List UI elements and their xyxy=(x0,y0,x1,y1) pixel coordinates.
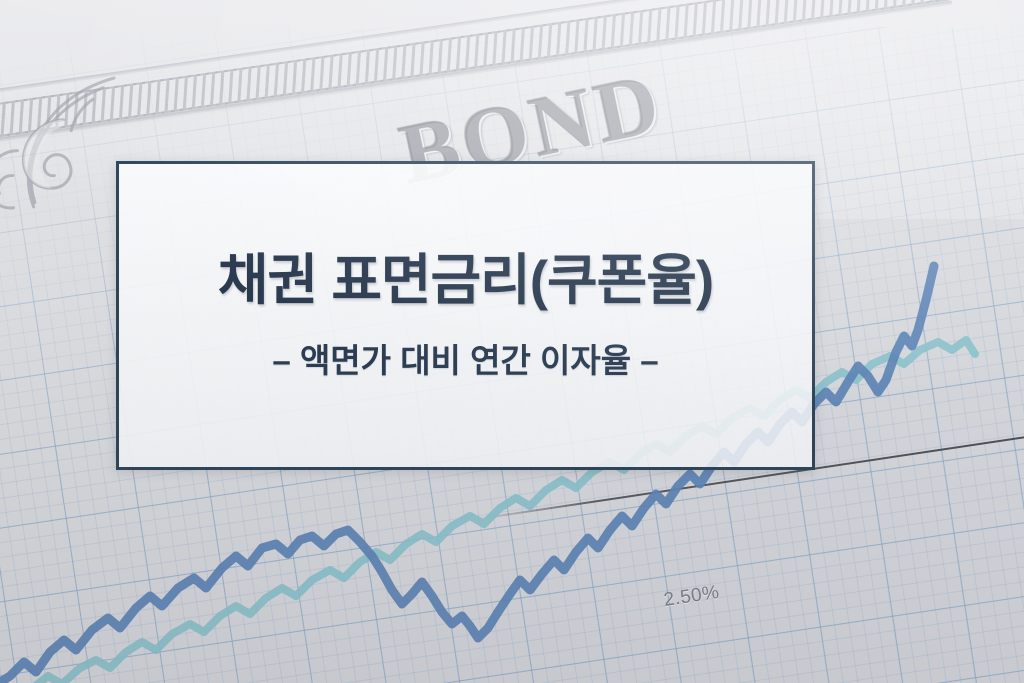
page-title: 채권 표면금리(쿠폰율) xyxy=(218,250,713,311)
title-card: 채권 표면금리(쿠폰율) – 액면가 대비 연간 이자율 – xyxy=(116,161,815,470)
page-subtitle: – 액면가 대비 연간 이자율 – xyxy=(272,341,658,381)
title-card-scene: BOND 2.50% 채권 표면금리(쿠폰율) – 액면가 대비 연간 이자율 … xyxy=(0,0,1024,683)
